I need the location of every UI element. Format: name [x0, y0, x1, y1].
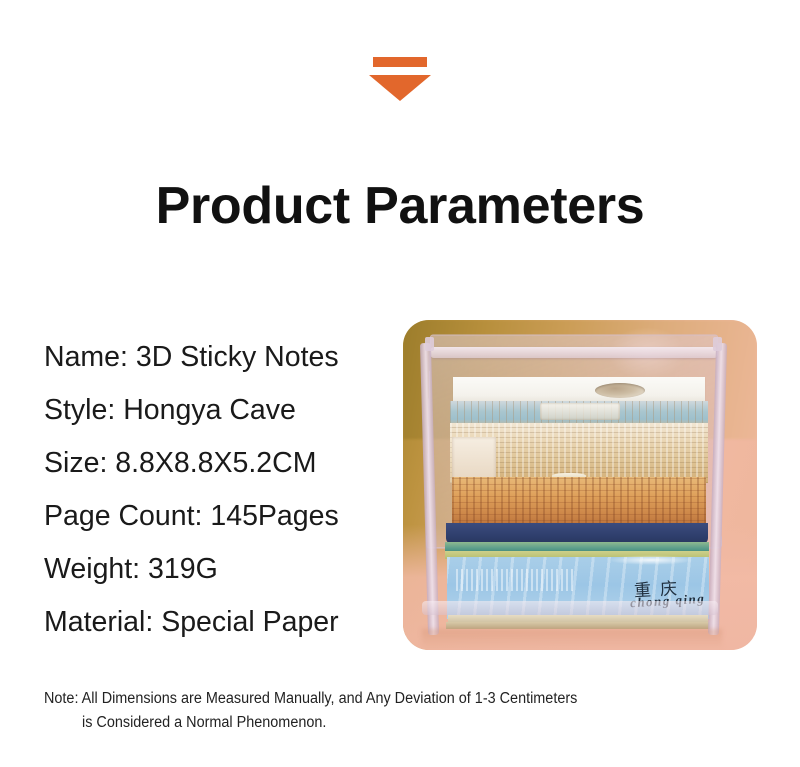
spec-row-page-count: Page Count: 145Pages [44, 490, 394, 543]
paper-layer-navy [446, 523, 708, 544]
footnote-line-1: Note: All Dimensions are Measured Manual… [44, 687, 760, 711]
spec-row-style: Style: Hongya Cave [44, 384, 394, 437]
case-front-bar [422, 601, 718, 615]
footnote-line-2: is Considered a Normal Phenomenon. [44, 711, 760, 735]
spec-row-weight: Weight: 319G [44, 543, 394, 596]
pad-bottom-edge-2 [446, 622, 710, 629]
decorative-divider [0, 57, 800, 102]
product-photo-3d-sticky-notes: 重庆 chong qing [403, 320, 757, 650]
page-title: Product Parameters [0, 176, 800, 236]
pad-oval-hole [595, 383, 645, 398]
case-post-left [425, 337, 434, 351]
carving-lower-city [452, 477, 706, 527]
triangle-down-icon [369, 75, 431, 101]
product-spec-list: Name: 3D Sticky Notes Style: Hongya Cave… [44, 331, 394, 649]
carving-foam [608, 555, 694, 565]
case-post-right [713, 337, 722, 351]
surface-reflection [422, 629, 722, 649]
acrylic-case: 重庆 chong qing [412, 333, 734, 633]
paper-pad-top [453, 377, 705, 403]
spec-row-material: Material: Special Paper [44, 596, 394, 649]
case-lid [430, 347, 718, 358]
footnote: Note: All Dimensions are Measured Manual… [44, 687, 760, 735]
spec-row-name: Name: 3D Sticky Notes [44, 331, 394, 384]
divider-bar [373, 57, 427, 67]
carving-sign-plate [540, 403, 620, 420]
carving-bridge [456, 569, 576, 591]
spec-row-size: Size: 8.8X8.8X5.2CM [44, 437, 394, 490]
